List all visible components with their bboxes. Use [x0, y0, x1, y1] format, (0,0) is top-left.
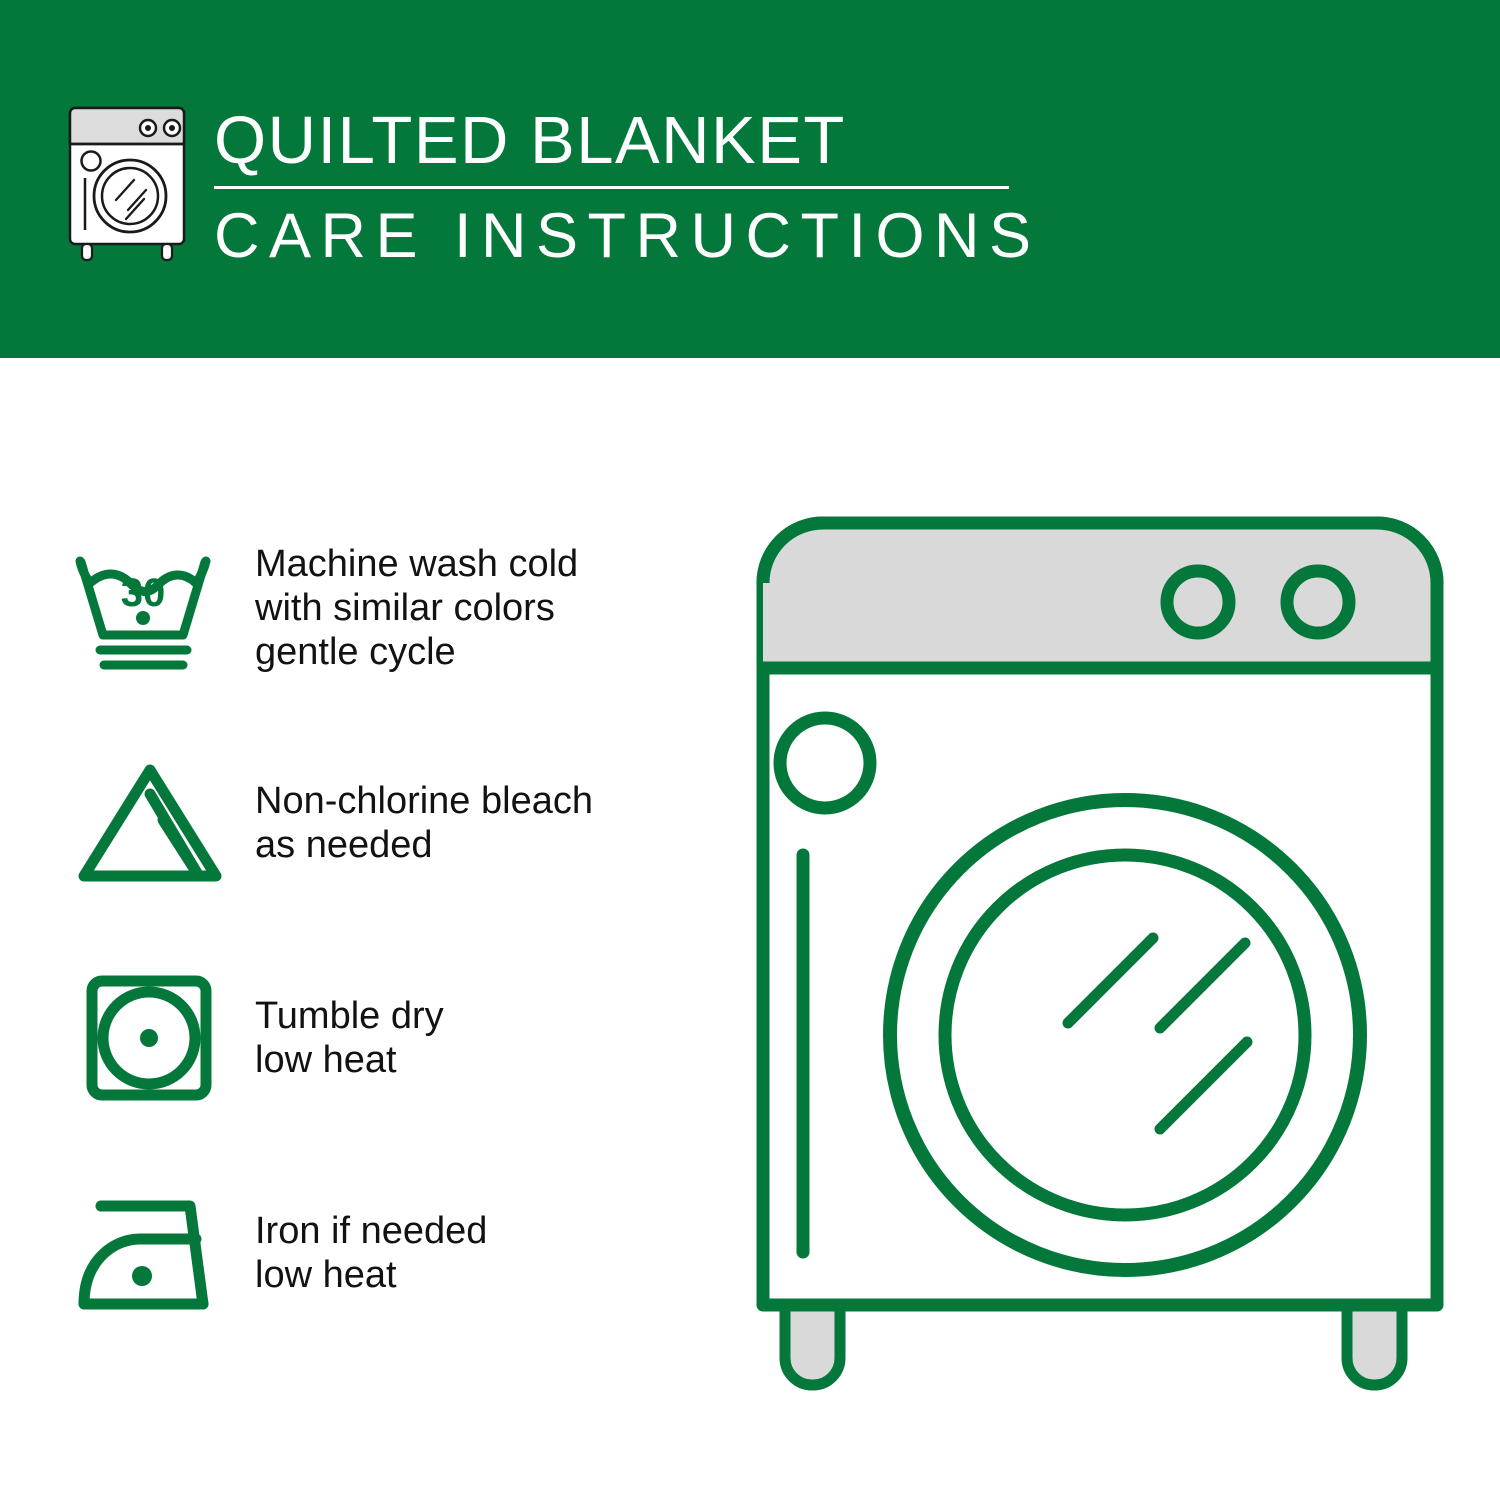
instruction-text-tumble-dry: Tumble dry low heat	[255, 994, 444, 1082]
iron-low-heat-icon	[70, 1188, 255, 1318]
page-title: QUILTED BLANKET	[214, 102, 1034, 180]
wash-temperature-label: 30	[121, 571, 166, 615]
care-instructions-page: QUILTED BLANKET CARE INSTRUCTIONS	[0, 0, 1500, 1500]
instruction-line: Tumble dry	[255, 994, 444, 1038]
washing-machine-logo-icon	[64, 104, 196, 264]
instruction-item-tumble-dry: Tumble dry low heat	[70, 930, 710, 1145]
non-chlorine-bleach-triangle-icon	[70, 758, 255, 888]
header-title-block: QUILTED BLANKET CARE INSTRUCTIONS	[214, 102, 1034, 272]
front-load-washing-machine-illustration	[735, 495, 1465, 1415]
instruction-text-bleach: Non-chlorine bleach as needed	[255, 779, 593, 867]
header-banner: QUILTED BLANKET CARE INSTRUCTIONS	[0, 0, 1500, 358]
tumble-dry-low-heat-icon	[70, 973, 255, 1103]
instruction-line: Machine wash cold	[255, 542, 578, 586]
instruction-text-wash: Machine wash cold with similar colors ge…	[255, 542, 578, 674]
instruction-line: low heat	[255, 1253, 487, 1297]
instruction-list: 30 Machine wash cold with similar colors…	[70, 500, 710, 1360]
instruction-line: Iron if needed	[255, 1209, 487, 1253]
instruction-text-iron: Iron if needed low heat	[255, 1209, 487, 1297]
instruction-item-bleach: Non-chlorine bleach as needed	[70, 715, 710, 930]
instruction-line: as needed	[255, 823, 593, 867]
instruction-item-wash: 30 Machine wash cold with similar colors…	[70, 500, 710, 715]
instruction-item-iron: Iron if needed low heat	[70, 1145, 710, 1360]
instruction-line: Non-chlorine bleach	[255, 779, 593, 823]
instruction-line: low heat	[255, 1038, 444, 1082]
instruction-line: gentle cycle	[255, 630, 578, 674]
page-subtitle: CARE INSTRUCTIONS	[214, 200, 1034, 272]
title-divider	[214, 186, 1009, 189]
instruction-line: with similar colors	[255, 586, 578, 630]
wash-tub-30-gentle-icon: 30	[70, 543, 255, 673]
